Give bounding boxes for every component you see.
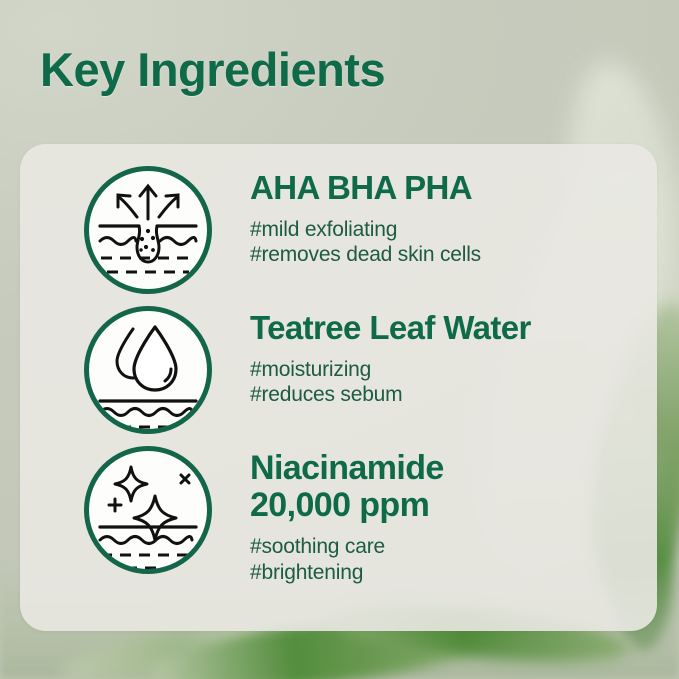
ingredient-text-block: Niacinamide 20,000 ppm #soothing care #b…: [250, 446, 444, 586]
ingredient-tags: #mild exfoliating #removes dead skin cel…: [250, 217, 481, 268]
ingredient-text-block: AHA BHA PHA #mild exfoliating #removes d…: [250, 166, 481, 268]
pore-exfoliation-icon: [84, 166, 212, 294]
ingredient-text-block: Teatree Leaf Water #moisturizing #reduce…: [250, 306, 531, 408]
sparkle-skin-icon: [84, 446, 212, 574]
ingredient-row: Niacinamide 20,000 ppm #soothing care #b…: [20, 446, 657, 586]
ingredient-name: Teatree Leaf Water: [250, 310, 531, 346]
ingredient-tags: #soothing care #brightening: [250, 534, 444, 585]
key-ingredients-poster: Key Ingredients: [0, 0, 679, 679]
ingredient-name: AHA BHA PHA: [250, 170, 481, 206]
ingredients-card: AHA BHA PHA #mild exfoliating #removes d…: [20, 144, 657, 631]
ingredient-tags: #moisturizing #reduces sebum: [250, 357, 531, 408]
ingredient-row: AHA BHA PHA #mild exfoliating #removes d…: [20, 166, 657, 294]
ingredient-name: Niacinamide 20,000 ppm: [250, 450, 444, 523]
ingredient-row: Teatree Leaf Water #moisturizing #reduce…: [20, 306, 657, 434]
water-droplets-icon: [84, 306, 212, 434]
page-title: Key Ingredients: [40, 42, 385, 97]
